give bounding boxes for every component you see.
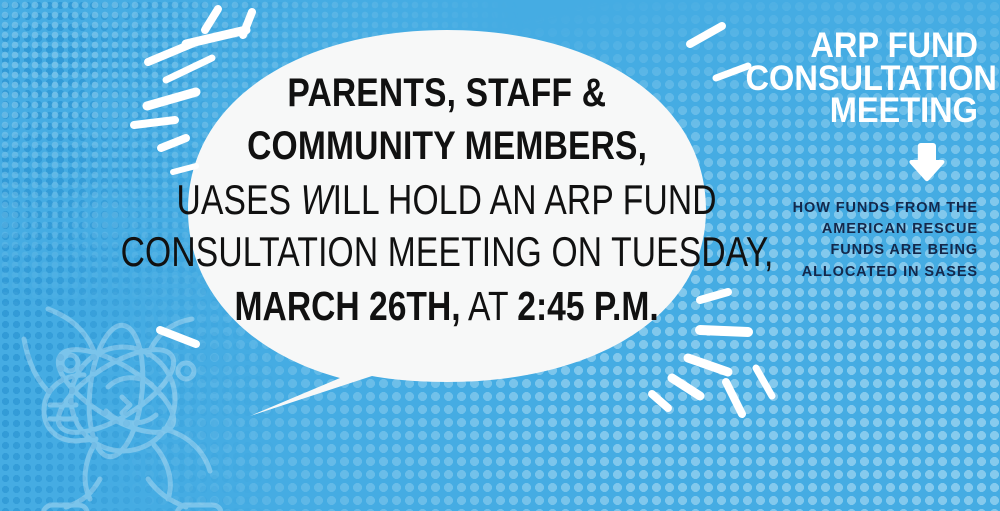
right-column: ARP Fund Consultation Meeting How funds … bbox=[728, 30, 978, 283]
subtitle-line-1: How funds from the bbox=[728, 198, 978, 219]
headline-line-1: ARP Fund bbox=[746, 30, 979, 63]
subtitle-line-2: American Rescue bbox=[728, 219, 978, 240]
arrow-row bbox=[728, 140, 978, 184]
headline-line-3: Meeting bbox=[746, 95, 979, 128]
page-title: ARP Fund Consultation Meeting bbox=[746, 30, 979, 128]
subtitle-text: How funds from the American Rescue Funds… bbox=[728, 198, 978, 283]
subtitle-line-4: allocated in SASES bbox=[728, 262, 978, 283]
down-arrow-icon bbox=[904, 140, 948, 184]
poster-canvas: Parents, Staff & Community Members, UASE… bbox=[0, 0, 1000, 511]
subtitle-line-3: Funds are being bbox=[728, 240, 978, 261]
